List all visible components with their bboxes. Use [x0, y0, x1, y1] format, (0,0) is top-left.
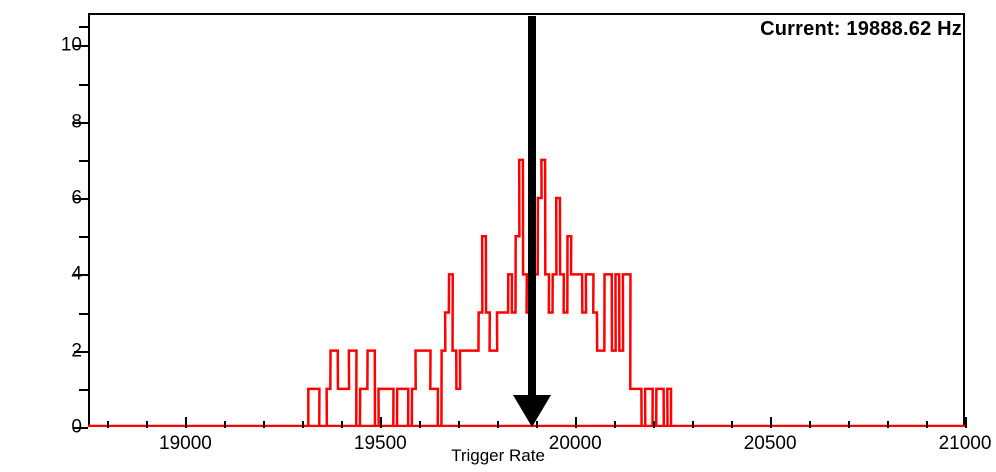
x-axis-tick-minor — [887, 421, 889, 428]
x-axis-tick-minor — [809, 421, 811, 428]
y-axis-label: 2 — [71, 341, 82, 360]
x-axis-tick-minor — [224, 421, 226, 428]
x-axis-tick-minor — [419, 421, 421, 428]
x-axis-tick-minor — [341, 421, 343, 428]
x-axis-tick-minor — [536, 421, 538, 428]
y-axis-label: 4 — [71, 265, 82, 284]
x-axis-tick-major — [380, 417, 382, 428]
x-axis-tick-major — [770, 417, 772, 428]
y-axis-tick-minor — [79, 313, 88, 315]
y-axis-label: 6 — [71, 189, 82, 208]
y-axis-tick-minor — [79, 160, 88, 162]
x-axis-tick-minor — [263, 421, 265, 428]
x-axis-tick-minor — [926, 421, 928, 428]
x-axis-tick-minor — [692, 421, 694, 428]
x-axis-tick-minor — [107, 421, 109, 428]
x-axis-tick-minor — [848, 421, 850, 428]
current-value-title: Current: 19888.62 Hz — [760, 18, 962, 41]
x-axis-tick-major — [965, 417, 967, 428]
x-axis-tick-minor — [731, 421, 733, 428]
x-axis-tick-minor — [146, 421, 148, 428]
y-axis-tick-minor — [79, 236, 88, 238]
x-axis-tick-minor — [497, 421, 499, 428]
y-axis-tick-minor — [79, 389, 88, 391]
y-axis-label: 0 — [71, 418, 82, 437]
x-axis-tick-major — [185, 417, 187, 428]
x-axis-tick-minor — [302, 421, 304, 428]
y-axis-label: 10 — [61, 36, 82, 55]
y-axis-label: 8 — [71, 112, 82, 131]
x-axis-tick-minor — [458, 421, 460, 428]
x-axis-tick-major — [575, 417, 577, 428]
x-axis-tick-minor — [653, 421, 655, 428]
x-axis-tick-minor — [614, 421, 616, 428]
x-axis-title: Trigger Rate — [0, 446, 996, 466]
axis-tick-layer: 02468101900019500200002050021000 — [88, 13, 965, 427]
y-axis-tick-minor — [79, 26, 88, 28]
y-axis-tick-minor — [79, 84, 88, 86]
trigger-rate-histogram-page: 02468101900019500200002050021000 Current… — [0, 0, 996, 472]
